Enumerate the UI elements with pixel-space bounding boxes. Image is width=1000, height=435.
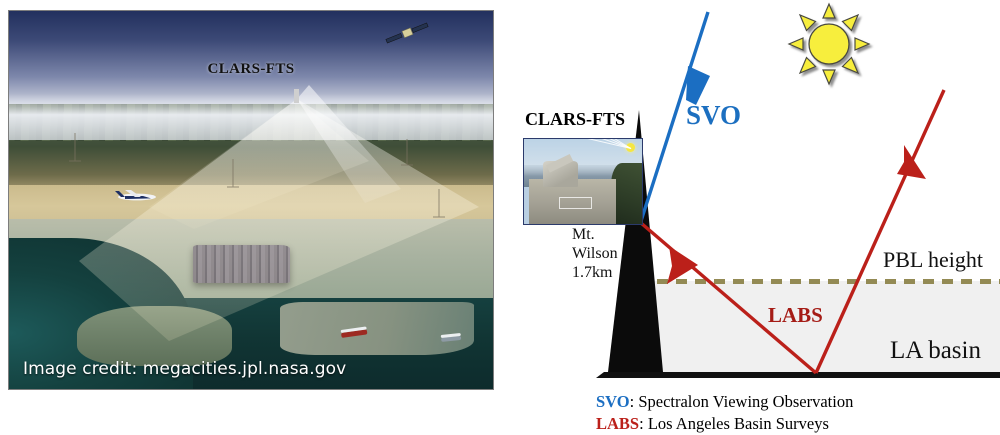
- sun-icon: [789, 4, 869, 84]
- legend-sep-labs: :: [639, 414, 648, 433]
- ground-line: [596, 372, 1000, 378]
- legend: SVO: Spectralon Viewing Observation LABS…: [596, 391, 1000, 435]
- photo-satellite-icon: [385, 22, 428, 45]
- legend-expansion-svo: Spectralon Viewing Observation: [638, 392, 853, 411]
- photo-ship-icons: [341, 326, 462, 342]
- mount-wilson-label: Mt. Wilson 1.7km: [572, 226, 618, 283]
- labs-arrowhead-up: [897, 145, 926, 179]
- mount-wilson-altitude: 1.7km: [572, 264, 618, 283]
- photo-airplane-icon: [115, 190, 156, 200]
- diagram-clars-fts-label: CLARS-FTS: [525, 109, 625, 130]
- labs-label: LABS: [768, 303, 823, 328]
- la-basin-label: LA basin: [890, 337, 981, 365]
- image-credit-label: Image credit: megacities.jpl.nasa.gov: [23, 359, 346, 379]
- legend-abbr-svo: SVO: [596, 392, 630, 411]
- observation-schematic-panel: CLARS-FTS Mt. Wilson 1.7km SVO LABS PBL …: [500, 0, 1000, 435]
- legend-item-svo: SVO: Spectralon Viewing Observation: [596, 391, 1000, 413]
- pbl-height-label: PBL height: [883, 247, 983, 273]
- svo-label: SVO: [686, 100, 741, 131]
- legend-item-labs: LABS: Los Angeles Basin Surveys: [596, 413, 1000, 435]
- mount-wilson-line2: Wilson: [572, 245, 618, 264]
- photo-clars-site-marker: [294, 89, 299, 103]
- photo-clars-fts-label: CLARS-FTS: [9, 61, 493, 78]
- figure-root: CLARS-FTS Image credit: megacities.jpl.n…: [0, 0, 1000, 435]
- legend-abbr-labs: LABS: [596, 414, 639, 433]
- la-basin-photo-panel: CLARS-FTS Image credit: megacities.jpl.n…: [8, 10, 494, 390]
- inset-annotation-box: [559, 197, 592, 209]
- labs-arrowhead-down: [667, 246, 698, 284]
- clars-fts-instrument-photo: [523, 138, 643, 225]
- legend-expansion-labs: Los Angeles Basin Surveys: [648, 414, 829, 433]
- mount-wilson-line1: Mt.: [572, 226, 618, 245]
